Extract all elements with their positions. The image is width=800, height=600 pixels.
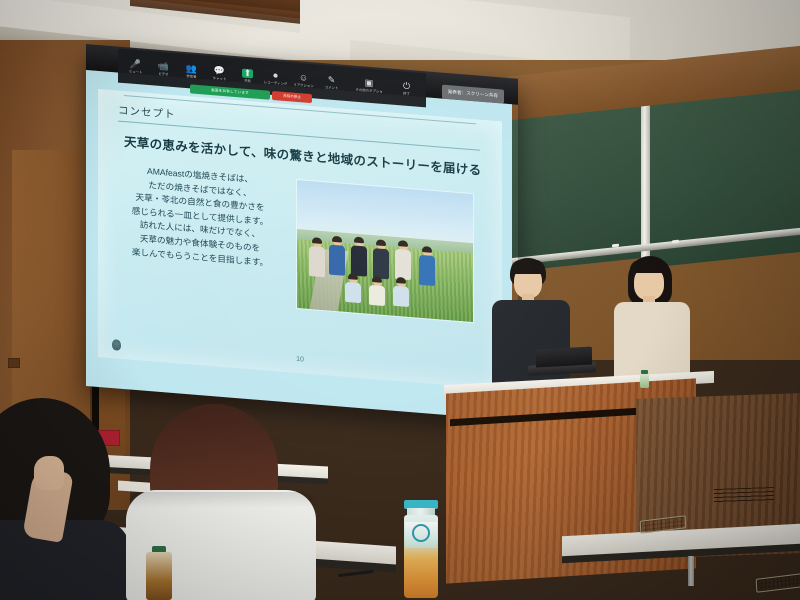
tea-bottle-audience <box>146 546 172 600</box>
slide-group-photo <box>296 179 474 323</box>
zoom-control-label: ビデオ <box>158 72 168 77</box>
pen <box>338 570 374 577</box>
zoom-control-label: チャット <box>213 76 227 81</box>
share-screen-icon: ⬆ <box>242 69 254 79</box>
zoom-control-video[interactable]: 📹 ビデオ <box>150 61 177 77</box>
presentation-slide: コンセプト 天草の恵みを活かして、味の驚きと地域のストーリーを届ける AMAfe… <box>98 89 502 390</box>
zoom-control-label: レコーディング <box>264 80 288 86</box>
wall-outlet <box>8 358 20 368</box>
presenter-fringe <box>511 260 545 274</box>
microphone-icon: 🎤 <box>130 60 141 70</box>
slide-page-number: 10 <box>98 340 502 380</box>
video-camera-icon: 📹 <box>158 62 169 72</box>
projection-screen: 🎤 ミュート 📹 ビデオ 👥 参加者 💬 チャット ⬆ 共有 <box>86 44 518 419</box>
zoom-control-apps[interactable]: ▣ その他のオプション <box>346 77 392 95</box>
stop-share-button[interactable]: 共有の停止 <box>272 91 312 103</box>
audience-center-shoulder-shadow <box>126 492 316 508</box>
zoom-control-participants[interactable]: 👥 参加者 <box>178 63 205 79</box>
photo-person <box>395 241 411 280</box>
left-wall-door <box>12 150 93 440</box>
photo-person <box>393 277 409 306</box>
photo-person <box>345 274 361 303</box>
zoom-control-label: コメント <box>325 85 339 90</box>
end-meeting-icon: ⏻ <box>403 82 410 92</box>
barley-tea-bottle <box>404 500 438 598</box>
laptop-screen <box>536 347 592 368</box>
zoom-control-label: その他のオプション <box>356 88 383 94</box>
bottle-body <box>640 374 649 388</box>
bottle-label-ring-icon <box>412 524 430 542</box>
apps-icon: ▣ <box>365 78 374 88</box>
participants-icon: 👥 <box>186 64 197 74</box>
bottle-body <box>146 552 172 600</box>
zoom-control-label: 終了 <box>403 92 410 97</box>
zoom-control-reactions[interactable]: ☺ リアクション <box>290 72 317 88</box>
zoom-control-annotate[interactable]: ✎ コメント <box>318 75 345 91</box>
tea-bottle-small <box>640 370 649 388</box>
photo-person <box>309 238 325 277</box>
zoom-control-microphone[interactable]: 🎤 ミュート <box>122 59 149 75</box>
zoom-control-share-screen[interactable]: ⬆ 共有 <box>234 68 261 84</box>
zoom-control-record[interactable]: ⏺ レコーディング <box>262 70 289 86</box>
presenter-right <box>606 256 698 390</box>
screen-surface: 🎤 ミュート 📹 ビデオ 👥 参加者 💬 チャット ⬆ 共有 <box>86 70 512 420</box>
zoom-control-label: 参加者 <box>186 74 196 79</box>
lecture-hall-photo: 🎤 ミュート 📹 ビデオ 👥 参加者 💬 チャット ⬆ 共有 <box>0 0 800 600</box>
audience-left-shirt <box>0 520 130 600</box>
zoom-control-label: 共有 <box>244 79 251 84</box>
audience-left-hand <box>34 456 64 490</box>
zoom-control-label: ミュート <box>129 69 143 74</box>
side-desk-vent <box>714 487 774 503</box>
photo-person <box>351 237 367 276</box>
keyboard[interactable] <box>756 573 800 593</box>
photo-person <box>369 277 385 306</box>
zoom-control-end[interactable]: ⏻ 終了 <box>393 81 420 97</box>
presenter-fringe <box>630 260 669 273</box>
slide-body-text: AMAfeastの塩焼きそばは、 ただの焼きそばではなく、 天草・苓北の自然と食… <box>114 162 286 271</box>
chat-icon: 💬 <box>214 66 225 76</box>
photo-person <box>329 237 345 276</box>
zoom-control-chat[interactable]: 💬 チャット <box>206 66 233 82</box>
zoom-control-label: リアクション <box>293 83 313 89</box>
reactions-icon: ☺ <box>299 73 308 83</box>
desk-leg <box>688 556 694 586</box>
photo-person <box>373 240 389 279</box>
photo-person <box>419 247 435 286</box>
annotate-icon: ✎ <box>328 75 336 85</box>
slide-kicker: コンセプト <box>118 103 176 123</box>
record-icon: ⏺ <box>273 71 278 80</box>
